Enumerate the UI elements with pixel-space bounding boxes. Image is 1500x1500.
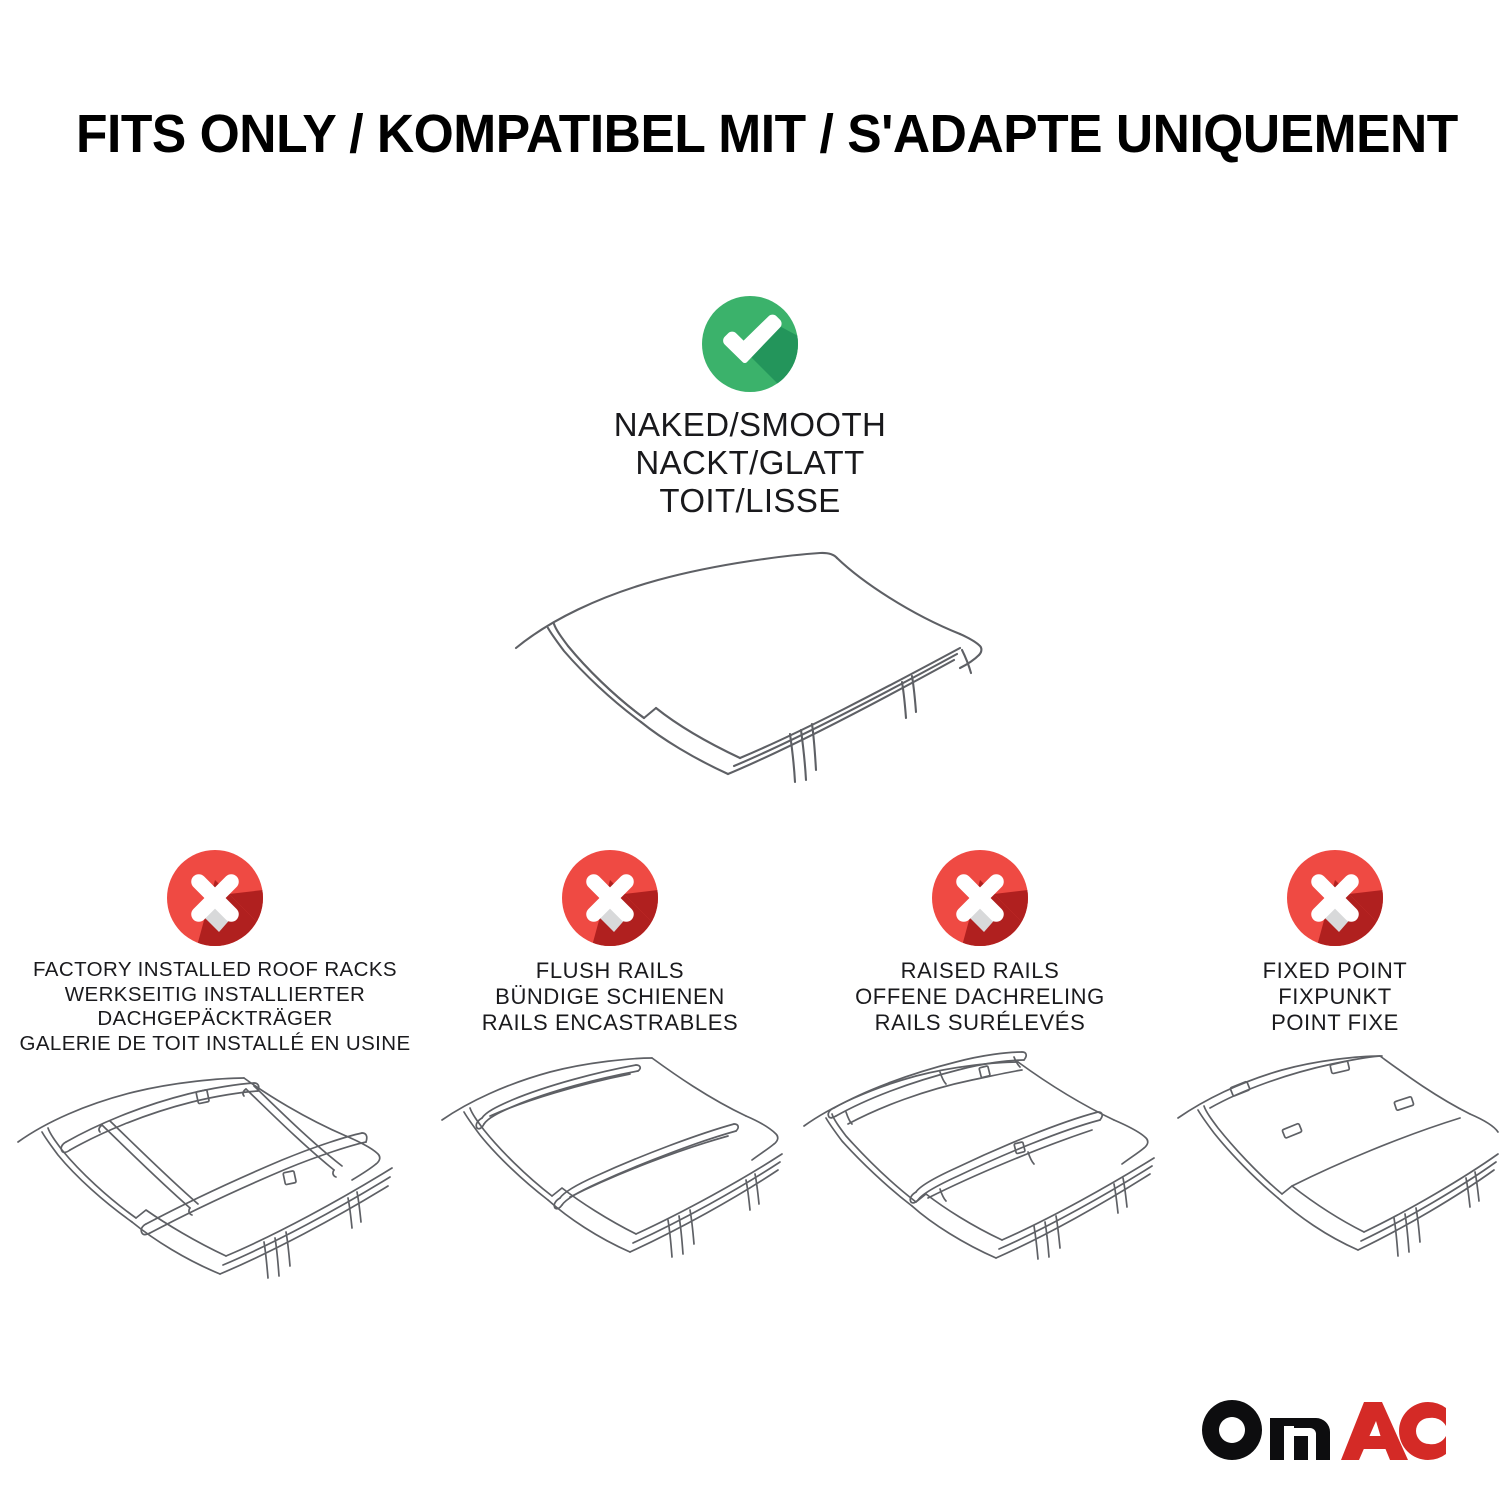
omac-logo — [1196, 1394, 1454, 1468]
incompatible-label-4-line-3: POINT FIXE — [1263, 1010, 1408, 1036]
incompatible-item-flush-rails: FLUSH RAILS BÜNDIGE SCHIENEN RAILS ENCAS… — [430, 850, 790, 1260]
car-roof-naked-smooth-illustration — [490, 542, 1010, 800]
incompatible-item-factory-rack: FACTORY INSTALLED ROOF RACKS WERKSEITIG … — [0, 850, 430, 1280]
incompatible-badge-wrap-4 — [1287, 850, 1383, 946]
car-roof-raised-rails-illustration — [790, 1050, 1170, 1260]
incompatible-item-fixed-point: FIXED POINT FIXPUNKT POINT FIXE — [1170, 850, 1500, 1260]
incompatible-label-3: RAISED RAILS OFFENE DACHRELING RAILS SUR… — [855, 958, 1105, 1036]
car-roof-fixed-point-illustration — [1170, 1050, 1500, 1260]
incompatible-label-1-line-1: FACTORY INSTALLED ROOF RACKS — [19, 958, 410, 983]
incompatible-label-1: FACTORY INSTALLED ROOF RACKS WERKSEITIG … — [19, 958, 410, 1056]
incompatible-item-raised-rails: RAISED RAILS OFFENE DACHRELING RAILS SUR… — [790, 850, 1170, 1260]
incompatible-label-2-line-2: BÜNDIGE SCHIENEN — [482, 984, 739, 1010]
car-roof-factory-rack-illustration — [0, 1070, 430, 1280]
incompatible-label-2-line-1: FLUSH RAILS — [482, 958, 739, 984]
incompatible-label-4: FIXED POINT FIXPUNKT POINT FIXE — [1263, 958, 1408, 1036]
incompatible-section: FACTORY INSTALLED ROOF RACKS WERKSEITIG … — [0, 850, 1500, 1280]
incompatible-label-3-line-3: RAILS SURÉLEVÉS — [855, 1010, 1105, 1036]
incompatible-label-4-line-1: FIXED POINT — [1263, 958, 1408, 984]
compatible-label-line-3: TOIT/LISSE — [614, 482, 887, 520]
page-title: FITS ONLY / KOMPATIBEL MIT / S'ADAPTE UN… — [76, 104, 1375, 164]
incompatible-label-3-line-2: OFFENE DACHRELING — [855, 984, 1105, 1010]
x-circle-icon — [562, 850, 658, 946]
compatible-label-line-2: NACKT/GLATT — [614, 444, 887, 482]
incompatible-label-2-line-3: RAILS ENCASTRABLES — [482, 1010, 739, 1036]
incompatible-label-2: FLUSH RAILS BÜNDIGE SCHIENEN RAILS ENCAS… — [482, 958, 739, 1036]
compatible-badge-wrap — [702, 296, 798, 392]
incompatible-badge-wrap-3 — [932, 850, 1028, 946]
incompatible-label-1-line-2: WERKSEITIG INSTALLIERTER — [19, 983, 410, 1008]
x-circle-icon — [167, 850, 263, 946]
incompatible-badge-wrap-2 — [562, 850, 658, 946]
compatible-label-line-1: NAKED/SMOOTH — [614, 406, 887, 444]
car-roof-flush-rails-illustration — [430, 1050, 790, 1260]
check-circle-icon — [702, 296, 798, 392]
incompatible-label-3-line-1: RAISED RAILS — [855, 958, 1105, 984]
x-circle-icon — [1287, 850, 1383, 946]
incompatible-badge-wrap-1 — [167, 850, 263, 946]
incompatible-label-1-line-4: GALERIE DE TOIT INSTALLÉ EN USINE — [19, 1032, 410, 1057]
compatible-section: NAKED/SMOOTH NACKT/GLATT TOIT/LISSE — [0, 296, 1500, 800]
compatibility-chart-page: FITS ONLY / KOMPATIBEL MIT / S'ADAPTE UN… — [0, 0, 1500, 1500]
incompatible-label-4-line-2: FIXPUNKT — [1263, 984, 1408, 1010]
incompatible-label-1-line-3: DACHGEPÄCKTRÄGER — [19, 1007, 410, 1032]
compatible-label: NAKED/SMOOTH NACKT/GLATT TOIT/LISSE — [614, 406, 887, 520]
x-circle-icon — [932, 850, 1028, 946]
